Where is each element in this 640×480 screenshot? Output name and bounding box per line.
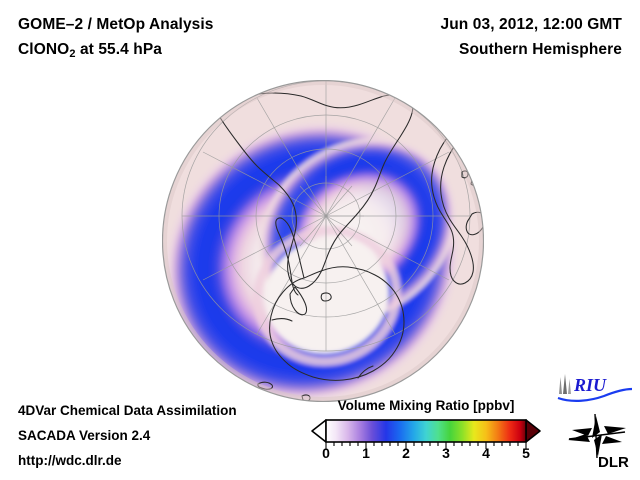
- colorbar-tick-label-2: 2: [394, 445, 418, 461]
- footer-method: 4DVar Chemical Data Assimilation: [18, 403, 237, 418]
- colorbar-scale: [310, 418, 542, 452]
- dlr-logo-text: DLR: [598, 454, 629, 470]
- colorbar-tick-label-0: 0: [314, 445, 338, 461]
- colorbar-tick-label-5: 5: [514, 445, 538, 461]
- page-title-species: ClONO2 at 55.4 hPa: [18, 41, 162, 60]
- riu-towers-icon: [559, 374, 571, 394]
- dlr-pinwheel-icon: [568, 414, 626, 458]
- page-title-instrument: GOME–2 / MetOp Analysis: [18, 16, 214, 34]
- colorbar-right-cap: [526, 420, 540, 442]
- colorbar-tick-label-3: 3: [434, 445, 458, 461]
- colorbar-title: Volume Mixing Ratio [ppbv]: [310, 398, 542, 413]
- colorbar-left-cap: [312, 420, 326, 442]
- colorbar-tick-label-1: 1: [354, 445, 378, 461]
- data-field-layer: [162, 80, 484, 402]
- colorbar-gradient: [326, 420, 526, 442]
- hemisphere-label: Southern Hemisphere: [459, 41, 622, 59]
- riu-logo: RIU: [556, 373, 634, 403]
- riu-logo-text: RIU: [573, 375, 607, 395]
- dlr-logo: DLR: [562, 412, 632, 470]
- colorbar: Volume Mixing Ratio [ppbv]: [310, 398, 542, 474]
- footer-version: SACADA Version 2.4: [18, 428, 150, 443]
- timestamp-label: Jun 03, 2012, 12:00 GMT: [441, 16, 623, 34]
- globe-map: [162, 80, 484, 402]
- colorbar-tick-label-4: 4: [474, 445, 498, 461]
- footer-url[interactable]: http://wdc.dlr.de: [18, 453, 122, 468]
- species-pressure-level: at 55.4 hPa: [76, 41, 163, 58]
- species-formula-prefix: ClONO: [18, 41, 69, 58]
